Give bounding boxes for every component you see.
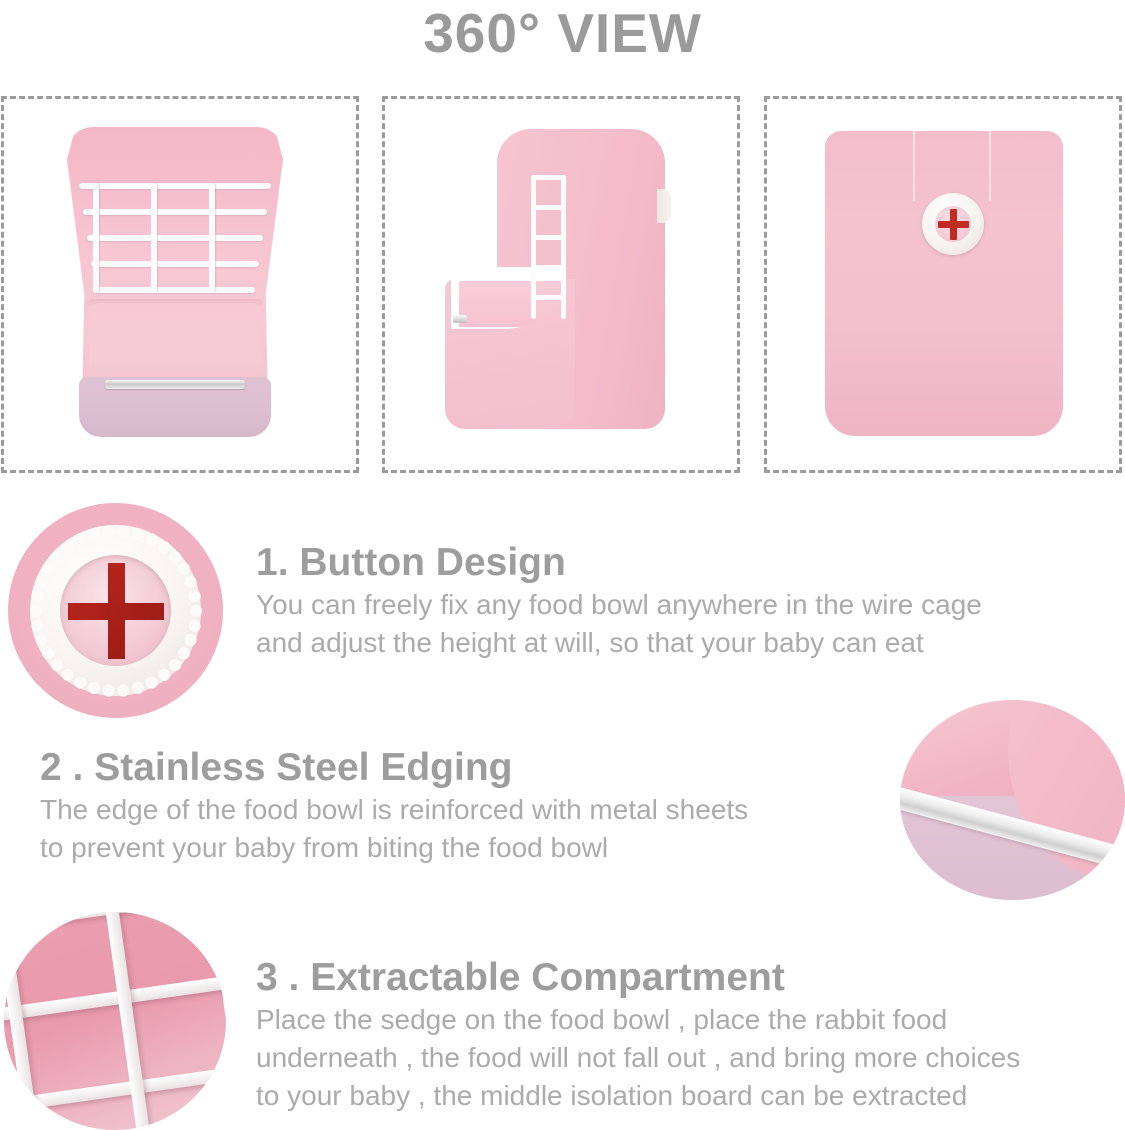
feature-2-body: The edge of the food bowl is reinforced … <box>40 791 880 867</box>
page-title: 360° VIEW <box>0 2 1125 64</box>
feature-1-image-button-closeup <box>8 503 223 718</box>
product-side-illustration <box>445 129 685 439</box>
gallery-panel-front-view <box>1 96 359 473</box>
gallery-panel-side-view <box>382 96 740 473</box>
product-front-illustration <box>59 127 291 432</box>
feature-1-line-1: You can freely fix any food bowl anywher… <box>256 586 1096 624</box>
feature-3-line-1: Place the sedge on the food bowl , place… <box>256 1001 1125 1039</box>
front-view-image <box>4 99 356 470</box>
seam-right <box>989 131 991 201</box>
feature-2: 2 . Stainless Steel Edging The edge of t… <box>40 745 880 867</box>
mounting-button-inner <box>935 206 971 242</box>
back-view-image <box>767 99 1119 470</box>
stainless-steel-strip <box>105 380 245 389</box>
stainless-steel-strip-side <box>453 315 467 323</box>
feature-2-heading: 2 . Stainless Steel Edging <box>40 745 880 791</box>
feature-1-line-2: and adjust the height at will, so that y… <box>256 624 1096 662</box>
side-button-knob <box>657 189 671 223</box>
cross-icon-horizontal <box>938 221 969 228</box>
gallery-panel-back-view <box>764 96 1122 473</box>
feature-3: 3 . Extractable Compartment Place the se… <box>256 955 1125 1115</box>
feature-3-line-2: underneath , the food will not fall out … <box>256 1039 1125 1077</box>
wire-grid-detail <box>4 912 226 1130</box>
button-dish <box>60 555 171 666</box>
wire-grid <box>75 183 275 301</box>
side-view-image <box>385 99 737 470</box>
feature-1: 1. Button Design You can freely fix any … <box>256 540 1096 662</box>
feature-1-body: You can freely fix any food bowl anywher… <box>256 586 1096 662</box>
feature-3-heading: 3 . Extractable Compartment <box>256 955 1125 1001</box>
product-back-illustration <box>825 131 1063 436</box>
cross-icon-horizontal <box>68 603 164 620</box>
feature-1-heading: 1. Button Design <box>256 540 1096 586</box>
wire-grid-side <box>531 175 571 323</box>
mounting-button <box>922 193 984 255</box>
feature-2-line-1: The edge of the food bowl is reinforced … <box>40 791 880 829</box>
feature-3-body: Place the sedge on the food bowl , place… <box>256 1001 1125 1115</box>
infographic-page: 360° VIEW <box>0 0 1125 1130</box>
feature-3-image-wire-grid-closeup <box>4 912 226 1130</box>
seam-left <box>913 131 915 201</box>
feature-2-image-steel-edge-closeup <box>900 700 1125 900</box>
feature-3-line-3: to your baby , the middle isolation boar… <box>256 1077 1125 1115</box>
feature-2-line-2: to prevent your baby from biting the foo… <box>40 829 880 867</box>
